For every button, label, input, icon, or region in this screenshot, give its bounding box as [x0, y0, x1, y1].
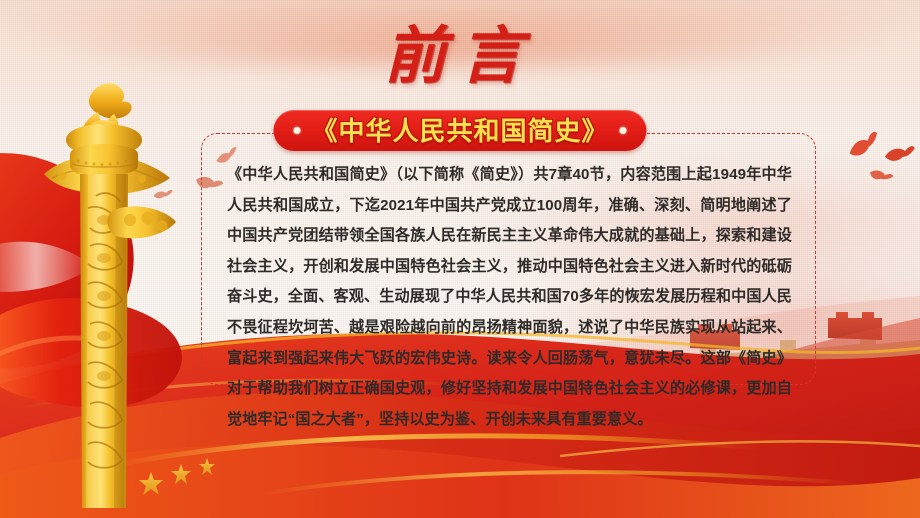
lower-cloud-icon	[107, 206, 176, 238]
banner-title-text: 《中华人民共和国简史》	[311, 118, 608, 144]
page-title: 前言	[0, 26, 920, 88]
pill-dot-right-icon	[620, 127, 627, 134]
dove-mid-left-icon	[151, 185, 175, 204]
huabiao-column-icon	[38, 78, 178, 518]
body-paragraph: 《中华人民共和国简史》（以下简称《简史》）共7章40节，内容范围上起1949年中…	[227, 160, 792, 435]
banner-title-pill: 《中华人民共和国简史》	[273, 110, 646, 151]
slide-canvas: 前言 《中华人民共和国简史》 《中华人民共和国简史》（以下简称《简史》）共7章4…	[0, 0, 920, 518]
dove-right-mid-icon	[883, 140, 917, 167]
pill-dot-left-icon	[293, 127, 300, 134]
